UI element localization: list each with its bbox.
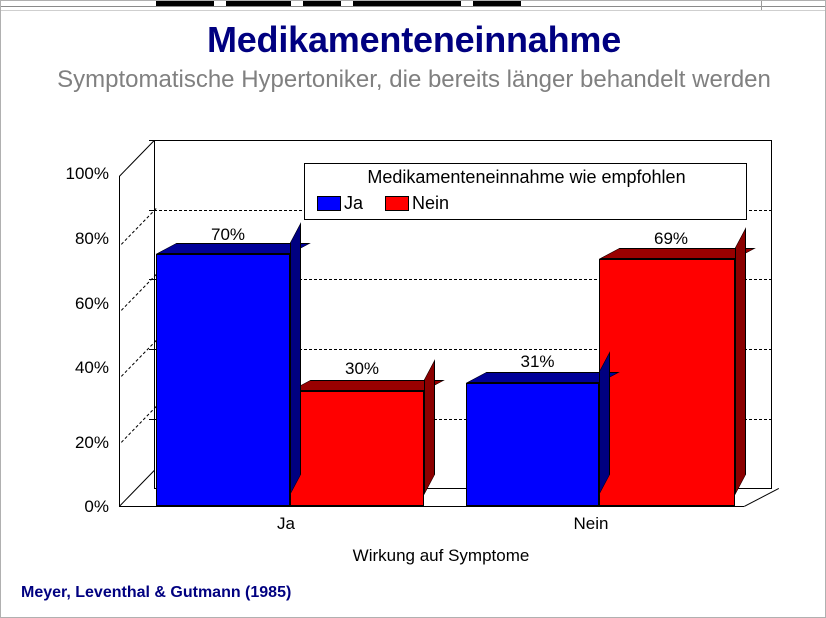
bar-side-face — [424, 359, 435, 495]
bar-side-face — [599, 351, 610, 495]
back-wall-left-edge — [154, 140, 155, 489]
legend-swatch-ja — [317, 196, 341, 211]
x-axis-title: Wirkung auf Symptome — [261, 546, 621, 566]
depth-tick-80 — [121, 208, 157, 245]
bar-top-face — [599, 248, 756, 259]
bar-value-label: 31% — [471, 352, 604, 372]
depth-line-bottom-left — [119, 470, 155, 507]
bar-nein-nein[interactable] — [599, 259, 735, 506]
y-tick-mark — [149, 140, 155, 141]
legend-label-nein: Nein — [412, 194, 449, 212]
citation-text: Meyer, Leventhal & Gutmann (1985) — [21, 584, 291, 602]
back-wall-top-edge — [154, 140, 772, 141]
bar-top-face — [290, 380, 445, 391]
bar-front-face — [599, 259, 735, 506]
x-category-label-nein: Nein — [526, 514, 656, 534]
x-axis-line — [119, 506, 744, 507]
depth-line-bottom-right — [744, 488, 779, 507]
y-axis-line — [119, 176, 120, 507]
y-tick-label: 100% — [39, 164, 109, 184]
bar-value-label: 69% — [603, 229, 739, 249]
chart-legend: Medikamenteneinnahme wie empfohlen Ja Ne… — [304, 163, 747, 220]
y-tick-label: 80% — [39, 229, 109, 249]
legend-entry-ja[interactable]: Ja — [317, 194, 363, 212]
bar-side-face — [735, 227, 746, 495]
y-tick-label: 0% — [39, 497, 109, 517]
bar-top-face — [466, 372, 620, 383]
depth-line-top-left — [119, 140, 155, 177]
chart-plot-area: 0% 20% 40% 60% 80% 100% — [1, 1, 826, 618]
legend-swatch-nein — [385, 196, 409, 211]
y-tick-label: 40% — [39, 358, 109, 378]
y-tick-label: 20% — [39, 433, 109, 453]
x-category-label-ja: Ja — [221, 514, 351, 534]
depth-tick-40 — [121, 340, 157, 377]
legend-label-ja: Ja — [344, 194, 363, 212]
bar-ja-ja[interactable] — [156, 254, 290, 506]
slide-canvas: Medikamenteneinnahme Symptomatische Hype… — [0, 0, 826, 618]
legend-title: Medikamenteneinnahme wie empfohlen — [305, 167, 748, 188]
y-tick-label: 60% — [39, 294, 109, 314]
bar-value-label: 70% — [161, 225, 295, 245]
bar-front-face — [290, 391, 424, 506]
legend-entry-nein[interactable]: Nein — [385, 194, 449, 212]
depth-tick-20 — [121, 406, 157, 443]
bar-front-face — [466, 383, 599, 506]
bar-front-face — [156, 254, 290, 506]
bar-ja-nein[interactable] — [290, 391, 424, 506]
back-wall-right-edge — [771, 140, 772, 489]
bar-nein-ja[interactable] — [466, 383, 599, 506]
bar-value-label: 30% — [295, 359, 429, 379]
